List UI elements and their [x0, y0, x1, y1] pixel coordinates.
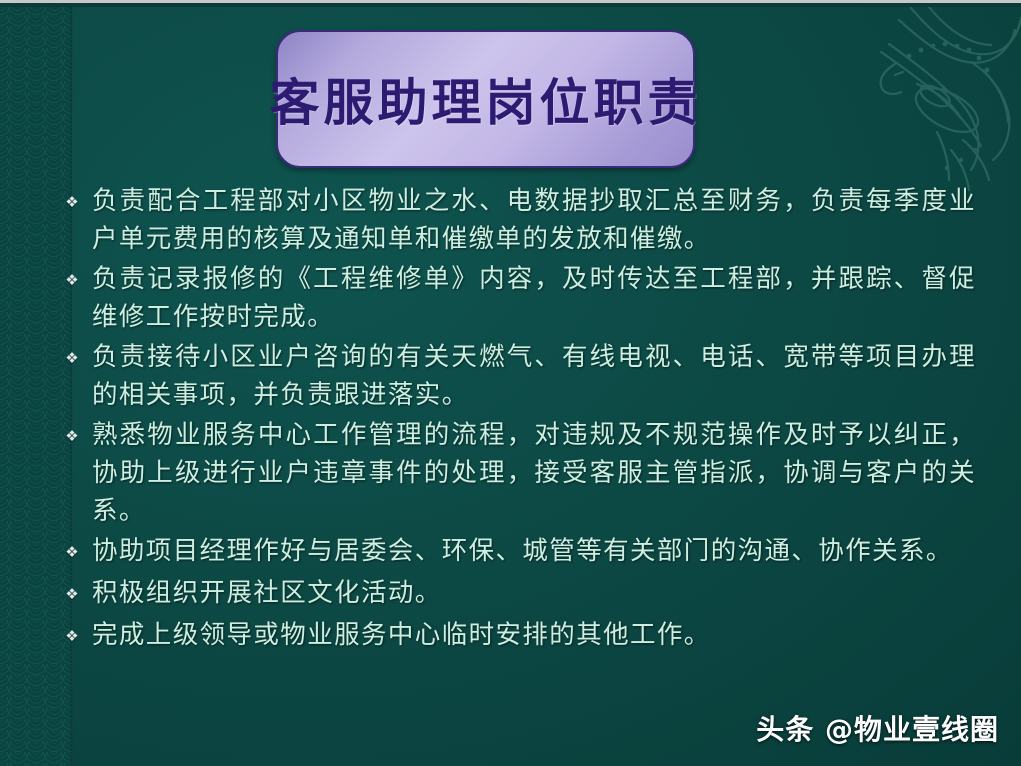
list-item-text: 完成上级领导或物业服务中心临时安排的其他工作。 [92, 616, 982, 654]
list-item: ❖ 负责记录报修的《工程维修单》内容，及时传达至工程部，并跟踪、督促维修工作按时… [52, 260, 982, 336]
list-item: ❖ 积极组织开展社区文化活动。 [52, 574, 982, 614]
diamond-bullet-icon: ❖ [52, 616, 92, 656]
diamond-bullet-icon: ❖ [52, 260, 92, 300]
diamond-bullet-icon: ❖ [52, 532, 92, 572]
watermark-handle: @物业壹线圈 [825, 713, 999, 746]
watermark: 头条 @物业壹线圈 [756, 708, 999, 748]
responsibility-list: ❖ 负责配合工程部对小区物业之水、电数据抄取汇总至财务，负责每季度业户单元费用的… [52, 182, 982, 658]
diamond-bullet-icon: ❖ [52, 338, 92, 378]
list-item-text: 协助项目经理作好与居委会、环保、城管等有关部门的沟通、协作关系。 [92, 532, 982, 570]
list-item-text: 负责记录报修的《工程维修单》内容，及时传达至工程部，并跟踪、督促维修工作按时完成… [92, 260, 982, 336]
diamond-bullet-icon: ❖ [52, 416, 92, 456]
watermark-brand: 头条 [756, 713, 825, 746]
phoenix-ornament-icon [851, 0, 1021, 200]
slide-canvas: 客服助理岗位职责 ❖ 负责配合工程部对小区物业之水、电数据抄取汇总至财务，负责每… [0, 0, 1021, 766]
list-item-text: 负责配合工程部对小区物业之水、电数据抄取汇总至财务，负责每季度业户单元费用的核算… [92, 182, 982, 258]
list-item: ❖ 负责接待小区业户咨询的有关天燃气、有线电视、电话、宽带等项目办理的相关事项，… [52, 338, 982, 414]
list-item: ❖ 完成上级领导或物业服务中心临时安排的其他工作。 [52, 616, 982, 656]
list-item: ❖ 熟悉物业服务中心工作管理的流程，对违规及不规范操作及时予以纠正，协助上级进行… [52, 416, 982, 530]
diamond-bullet-icon: ❖ [52, 182, 92, 222]
list-item-text: 负责接待小区业户咨询的有关天燃气、有线电视、电话、宽带等项目办理的相关事项，并负… [92, 338, 982, 414]
slide-title-box: 客服助理岗位职责 [276, 30, 695, 168]
list-item: ❖ 协助项目经理作好与居委会、环保、城管等有关部门的沟通、协作关系。 [52, 532, 982, 572]
list-item-text: 熟悉物业服务中心工作管理的流程，对违规及不规范操作及时予以纠正，协助上级进行业户… [92, 416, 982, 530]
list-item: ❖ 负责配合工程部对小区物业之水、电数据抄取汇总至财务，负责每季度业户单元费用的… [52, 182, 982, 258]
diamond-bullet-icon: ❖ [52, 574, 92, 614]
page-title: 客服助理岗位职责 [270, 63, 702, 135]
top-edge-band-inner [0, 3, 1021, 7]
list-item-text: 积极组织开展社区文化活动。 [92, 574, 982, 612]
